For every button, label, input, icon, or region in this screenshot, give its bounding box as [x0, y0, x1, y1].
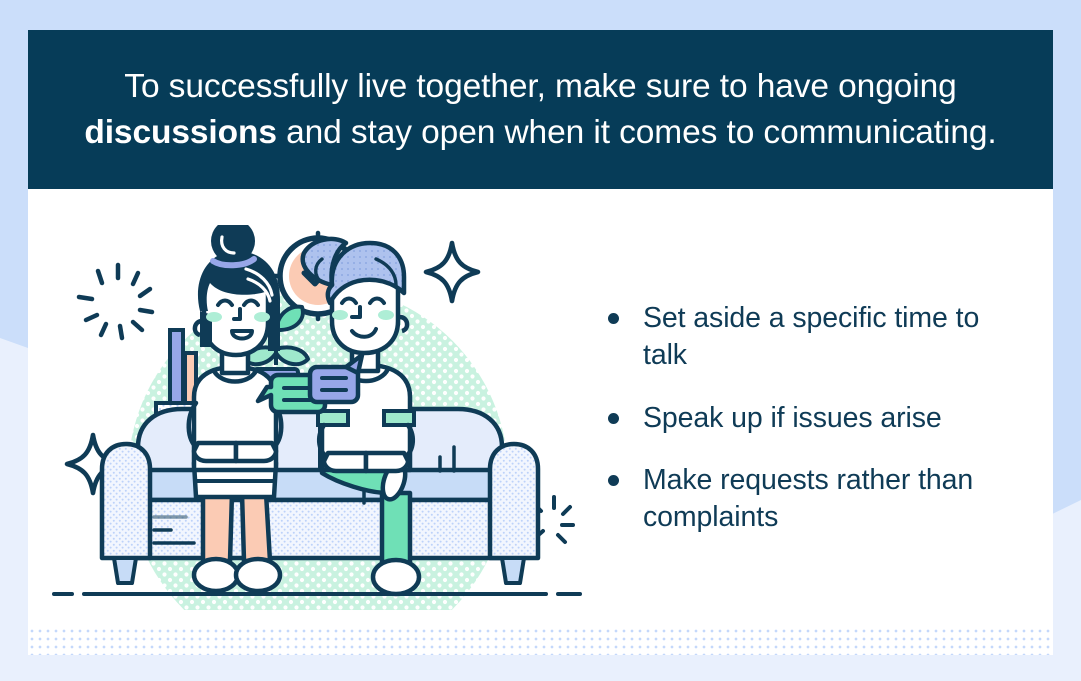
list-item: Speak up if issues arise: [608, 400, 1028, 437]
header-title: To successfully live together, make sure…: [84, 64, 996, 155]
header-line-2: and stay open when it comes to communica…: [277, 114, 997, 151]
header-banner: To successfully live together, make sure…: [28, 30, 1053, 189]
bullet-dot-icon: [608, 475, 619, 486]
slide-canvas: To successfully live together, make sure…: [0, 0, 1081, 681]
bullet-dot-icon: [608, 313, 619, 324]
header-emphasis: discussions: [84, 114, 277, 151]
bullet-label: Speak up if issues arise: [643, 400, 942, 437]
four-point-star-large: [426, 243, 478, 301]
bottom-halftone-band: [28, 627, 1053, 655]
list-item: Make requests rather than complaints: [608, 462, 1028, 536]
bullet-list: Set aside a specific time to talk Speak …: [608, 300, 1028, 536]
list-item: Set aside a specific time to talk: [608, 300, 1028, 374]
bullet-label: Make requests rather than complaints: [643, 462, 1028, 536]
starburst-decoration: [79, 265, 152, 338]
illustration-two-people-on-sofa: [46, 225, 591, 610]
bullet-dot-icon: [608, 413, 619, 424]
bullet-label: Set aside a specific time to talk: [643, 300, 1028, 374]
header-line-1: To successfully live together, make sure…: [124, 68, 956, 105]
